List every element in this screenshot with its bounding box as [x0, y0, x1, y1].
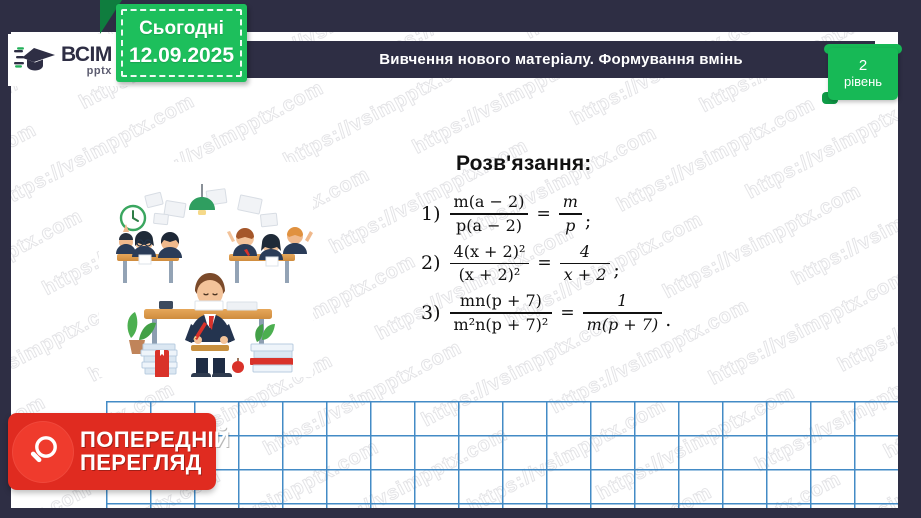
fraction-denominator: p: [561, 216, 579, 236]
equation-row: 3) mn(p + 7) m²n(p + 7)² = 1 m(p + 7) .: [421, 291, 751, 335]
fraction-left: 4(x + 2)² (x + 2)²: [450, 242, 530, 286]
fraction-denominator: p(a − 2): [452, 216, 526, 236]
equation-tail: .: [665, 309, 671, 335]
brand-logo-text: ВСІМ pptx: [61, 44, 112, 77]
fraction-numerator: 1: [613, 291, 631, 311]
fraction-denominator: (x + 2)²: [455, 265, 525, 285]
today-date-card: Сьогодні 12.09.2025: [116, 4, 247, 82]
equation-tail: ;: [585, 210, 591, 236]
fraction-bar: [583, 312, 663, 314]
fraction-bar: [450, 312, 553, 314]
graduation-cap-icon: [14, 43, 56, 77]
level-badge: 2 рівень: [828, 44, 898, 100]
preview-label-line2: ПЕРЕГЛЯД: [80, 452, 230, 474]
brand-logo[interactable]: ВСІМ pptx: [8, 34, 130, 86]
equals-sign: =: [560, 303, 574, 323]
equation-index: 1): [421, 203, 441, 225]
fraction-bar: [450, 213, 529, 215]
fraction-numerator: 4: [576, 242, 594, 262]
fraction-left: m(a − 2) p(a − 2): [450, 192, 529, 236]
solution-block: Розв'язання: 1) m(a − 2) p(a − 2) = m p …: [421, 152, 751, 341]
today-label: Сьогодні: [139, 18, 224, 40]
today-date-value: 12.09.2025: [129, 44, 234, 68]
equals-sign: =: [537, 253, 551, 273]
preview-button[interactable]: ПОПЕРЕДНІЙ ПЕРЕГЛЯД: [8, 413, 216, 490]
fraction-numerator: m: [559, 192, 582, 212]
fraction-denominator: m(p + 7): [583, 315, 663, 335]
equation-index: 3): [421, 302, 441, 324]
magnifier-icon: [12, 421, 74, 483]
equals-sign: =: [536, 204, 550, 224]
level-number: 2: [859, 58, 867, 75]
fraction-right: 4 x + 2: [560, 242, 611, 286]
fraction-bar: [559, 213, 582, 215]
solution-title: Розв'язання:: [456, 152, 751, 176]
slide-header-title: Вивчення нового матеріалу. Формування вм…: [379, 51, 743, 68]
fraction-numerator: 4(x + 2)²: [450, 242, 530, 262]
equation-row: 2) 4(x + 2)² (x + 2)² = 4 x + 2 ;: [421, 242, 751, 286]
preview-label-line1: ПОПЕРЕДНІЙ: [80, 429, 230, 451]
brand-suffix: pptx: [61, 66, 112, 77]
fraction-bar: [560, 263, 611, 265]
fraction-numerator: m(a − 2): [450, 192, 529, 212]
fraction-denominator: m²n(p + 7)²: [450, 315, 553, 335]
fraction-denominator: x + 2: [560, 265, 611, 285]
fraction-numerator: mn(p + 7): [456, 291, 546, 311]
fraction-left: mn(p + 7) m²n(p + 7)²: [450, 291, 553, 335]
brand-name: ВСІМ: [61, 44, 112, 65]
classroom-students-illustration: [99, 162, 313, 377]
fraction-right: 1 m(p + 7): [583, 291, 663, 335]
preview-button-label: ПОПЕРЕДНІЙ ПЕРЕГЛЯД: [80, 429, 230, 474]
fraction-right: m p: [559, 192, 582, 236]
level-word: рівень: [844, 74, 882, 90]
equation-index: 2): [421, 252, 441, 274]
slide-header-bar: Вивчення нового матеріалу. Формування вм…: [247, 41, 875, 78]
equation-tail: ;: [613, 259, 619, 285]
level-badge-body: 2 рівень: [828, 48, 898, 100]
equation-row: 1) m(a − 2) p(a − 2) = m p ;: [421, 192, 751, 236]
fraction-bar: [450, 263, 530, 265]
slide-root: Розв'язання: 1) m(a − 2) p(a − 2) = m p …: [0, 0, 921, 518]
